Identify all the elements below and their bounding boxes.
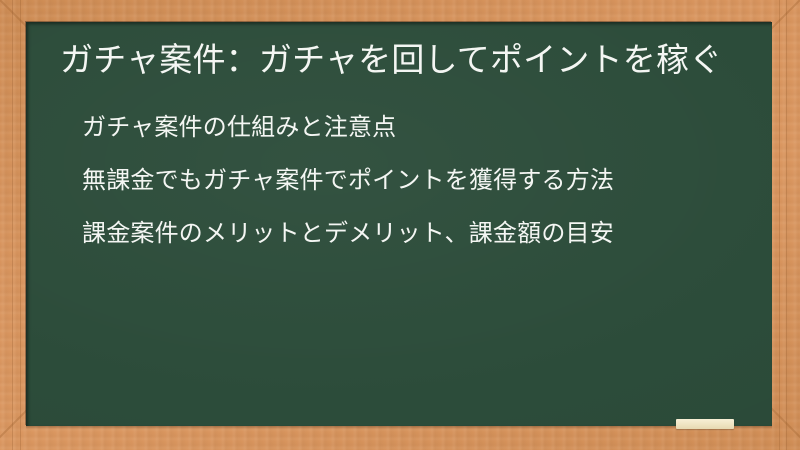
wood-grain-line-right-outer (786, 0, 787, 450)
list-item: ガチャ案件の仕組みと注意点 (26, 101, 772, 154)
list-item: 無課金でもガチャ案件でポイントを獲得する方法 (26, 154, 772, 207)
wood-grain-line-right-inner (779, 0, 780, 450)
topic-list: ガチャ案件の仕組みと注意点 無課金でもガチャ案件でポイントを獲得する方法 課金案… (26, 83, 772, 260)
page-title: ガチャ案件：ガチャを回してポイントを稼ぐ (26, 22, 772, 83)
wood-grain-line-left-outer (12, 0, 13, 450)
chalkboard-surface: ガチャ案件：ガチャを回してポイントを稼ぐ ガチャ案件の仕組みと注意点 無課金でも… (26, 22, 772, 426)
board-ledge-shadow (26, 426, 772, 429)
list-item: 課金案件のメリットとデメリット、課金額の目安 (26, 207, 772, 260)
chalk-stick-icon (676, 419, 734, 429)
wood-grain-line-left-inner (20, 0, 21, 450)
chalkboard-wooden-frame: ガチャ案件：ガチャを回してポイントを稼ぐ ガチャ案件の仕組みと注意点 無課金でも… (0, 0, 800, 450)
